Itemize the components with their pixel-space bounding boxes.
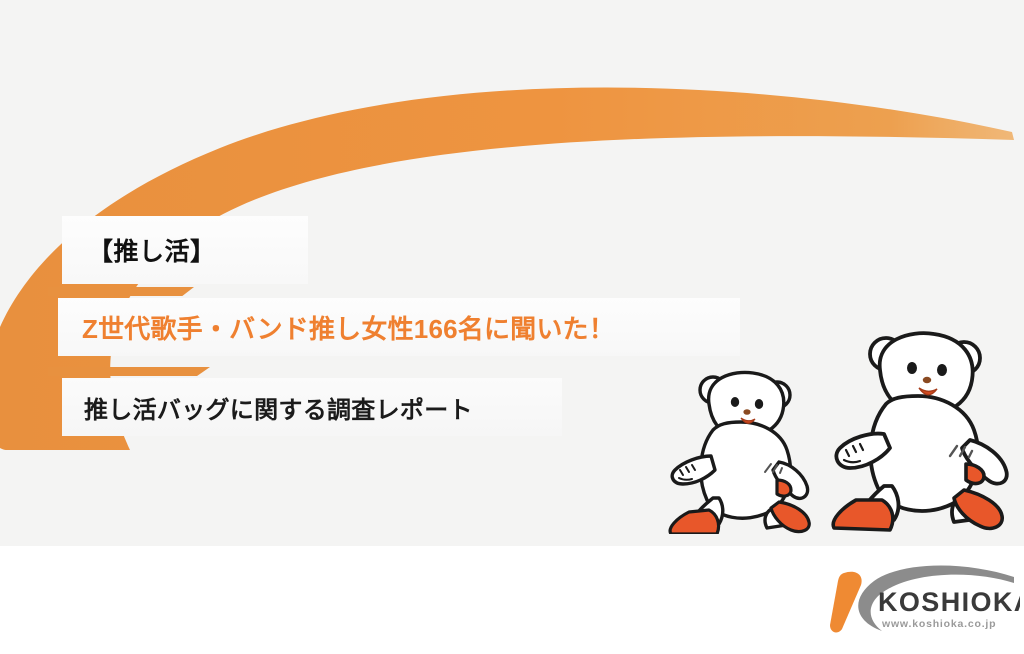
subtitle-box: 推し活バッグに関する調査レポート <box>62 378 562 436</box>
koshioka-logo: KOSHIOKA www.koshioka.co.jp <box>816 563 1020 639</box>
headline-box: Z世代歌手・バンド推し女性166名に聞いた！ <box>58 298 740 356</box>
report-cover-slide: 【推し活】 Z世代歌手・バンド推し女性166名に聞いた！ 推し活バッグに関する調… <box>0 0 1024 654</box>
logo-orange-stroke <box>830 572 862 633</box>
headline-text: Z世代歌手・バンド推し女性166名に聞いた！ <box>82 309 615 346</box>
subtitle-text: 推し活バッグに関する調査レポート <box>84 390 473 425</box>
kicker-text: 【推し活】 <box>88 232 216 268</box>
kicker-box: 【推し活】 <box>62 216 308 284</box>
running-bear-character-small <box>661 352 836 534</box>
logo-url-text: www.koshioka.co.jp <box>881 618 996 630</box>
running-bear-character-large <box>824 322 1024 540</box>
logo-company-text: KOSHIOKA <box>878 587 1020 617</box>
